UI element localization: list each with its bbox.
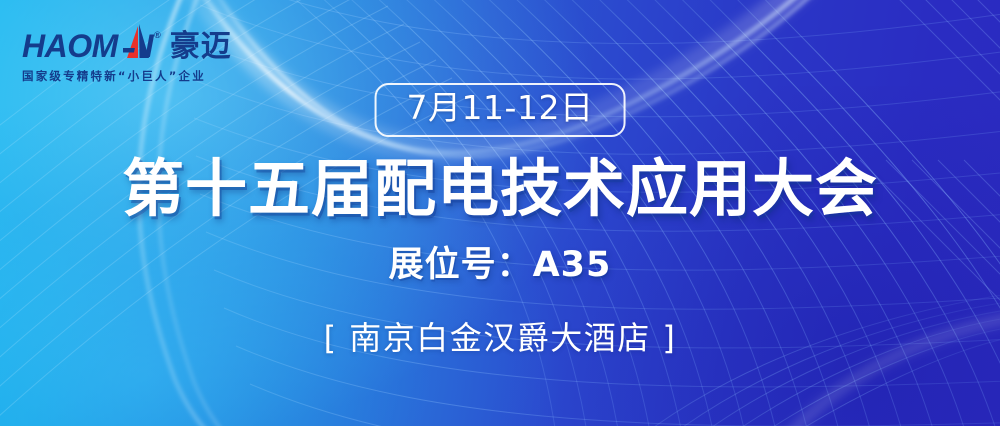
booth-number: 展位号：A35 <box>0 248 1000 283</box>
logo-chinese-name: 豪迈 <box>170 32 232 62</box>
logo-latin-tail: I <box>145 30 153 62</box>
registered-trademark-icon: ® <box>154 30 161 40</box>
event-title: 第十五届配电技术应用大会 <box>0 158 1000 220</box>
logo-tagline: 国家级专精特新“小巨人”企业 <box>22 68 248 84</box>
event-banner: HAOM I ® 豪迈 国家级专精特新“小巨人”企业 7月11-12日 第十五届… <box>0 0 1000 426</box>
event-venue: [ 南京白金汉爵大酒店 ] <box>0 322 1000 354</box>
logo-latin-text: HAOM <box>22 30 118 62</box>
logo-wordmark: HAOM I ® 豪迈 <box>22 22 248 62</box>
company-logo[interactable]: HAOM I ® 豪迈 国家级专精特新“小巨人”企业 <box>22 22 248 84</box>
event-date-badge: 7月11-12日 <box>375 83 626 137</box>
